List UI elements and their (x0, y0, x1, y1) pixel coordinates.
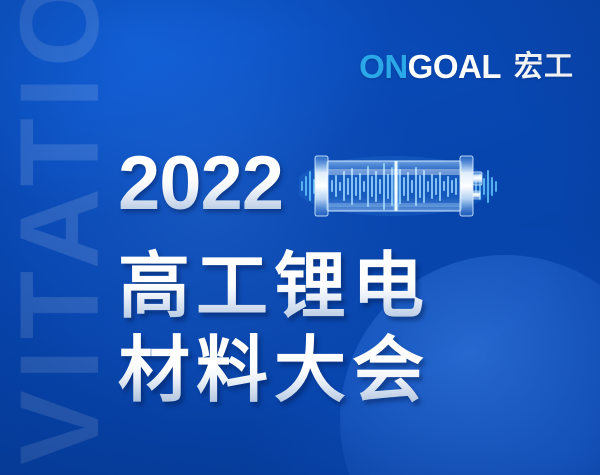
logo-wordmark-goal: GOAL (408, 50, 501, 83)
logo-wordmark-on: ON (359, 50, 408, 83)
year-and-graphic-row: 2022 (118, 143, 499, 225)
brand-logo: ONGOAL 宏工 (359, 50, 574, 83)
headline-line-2: 材料大会 (118, 332, 430, 410)
year-text: 2022 (118, 148, 283, 220)
logo-wordmark: ONGOAL (359, 50, 501, 83)
logo-chinese-name: 宏工 (514, 52, 574, 81)
invitation-poster: INVITATION ONGOAL 宏工 2022 (0, 0, 600, 475)
battery-cell-icon (299, 147, 499, 225)
headline-line-1: 高工锂电 (118, 248, 430, 326)
headline-block: 高工锂电 材料大会 (118, 248, 430, 410)
